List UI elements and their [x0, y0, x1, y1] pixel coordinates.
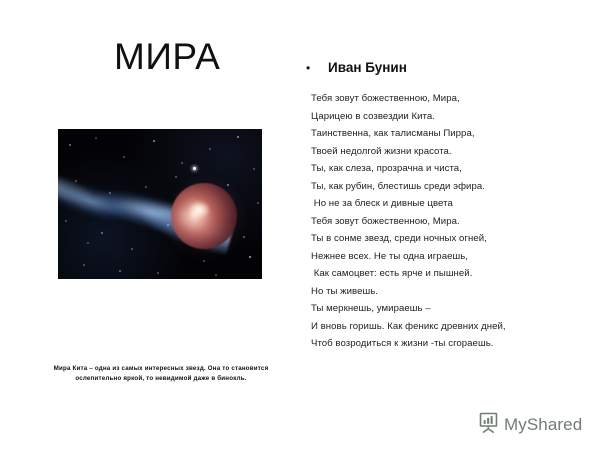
- poem-line: Но не за блеск и дивные цвета: [311, 195, 561, 213]
- poem-line: Тебя зовут божественною, Мира.: [311, 213, 561, 231]
- mira-star-image: [58, 129, 262, 279]
- bright-star-point: [193, 167, 196, 170]
- page-title: МИРА: [114, 36, 220, 78]
- poem-line: Таинственна, как талисманы Пирра,: [311, 125, 561, 143]
- bullet-icon: •: [306, 61, 320, 75]
- poem-line: Ты, как рубин, блестишь среди эфира.: [311, 178, 561, 196]
- myshared-label: MyShared: [504, 415, 582, 435]
- poem-line: Чтоб возродиться к жизни -ты сгораешь.: [311, 335, 561, 353]
- poem-line: Ты в сонме звезд, среди ночных огней,: [311, 230, 561, 248]
- poem-body: Тебя зовут божественною, Мира, Царицею в…: [311, 90, 561, 353]
- slide: МИРА Мира Кита – одна из самых интересны…: [0, 0, 600, 450]
- poem-line: Ты, как слеза, прозрачна и чиста,: [311, 160, 561, 178]
- poem-line: Ты меркнешь, умираешь –: [311, 300, 561, 318]
- author-name: Иван Бунин: [320, 60, 407, 76]
- poem-line: Тебя зовут божественною, Мира,: [311, 90, 561, 108]
- photo-caption: Мира Кита – одна из самых интересных зве…: [40, 364, 282, 383]
- poem-line: Но ты живешь.: [311, 283, 561, 301]
- myshared-watermark[interactable]: MyShared: [478, 412, 582, 438]
- poem-line: И вновь горишь. Как феникс древних дней,: [311, 318, 561, 336]
- presentation-chart-icon: [478, 412, 499, 438]
- author-bullet-item: • Иван Бунин: [306, 60, 407, 76]
- star-core: [188, 201, 210, 219]
- poem-line: Твоей недолгой жизни красота.: [311, 143, 561, 161]
- poem-line: Царицею в созвездии Кита.: [311, 108, 561, 126]
- poem-line: Нежнее всех. Не ты одна играешь,: [311, 248, 561, 266]
- poem-line: Как самоцвет: есть ярче и пышней.: [311, 265, 561, 283]
